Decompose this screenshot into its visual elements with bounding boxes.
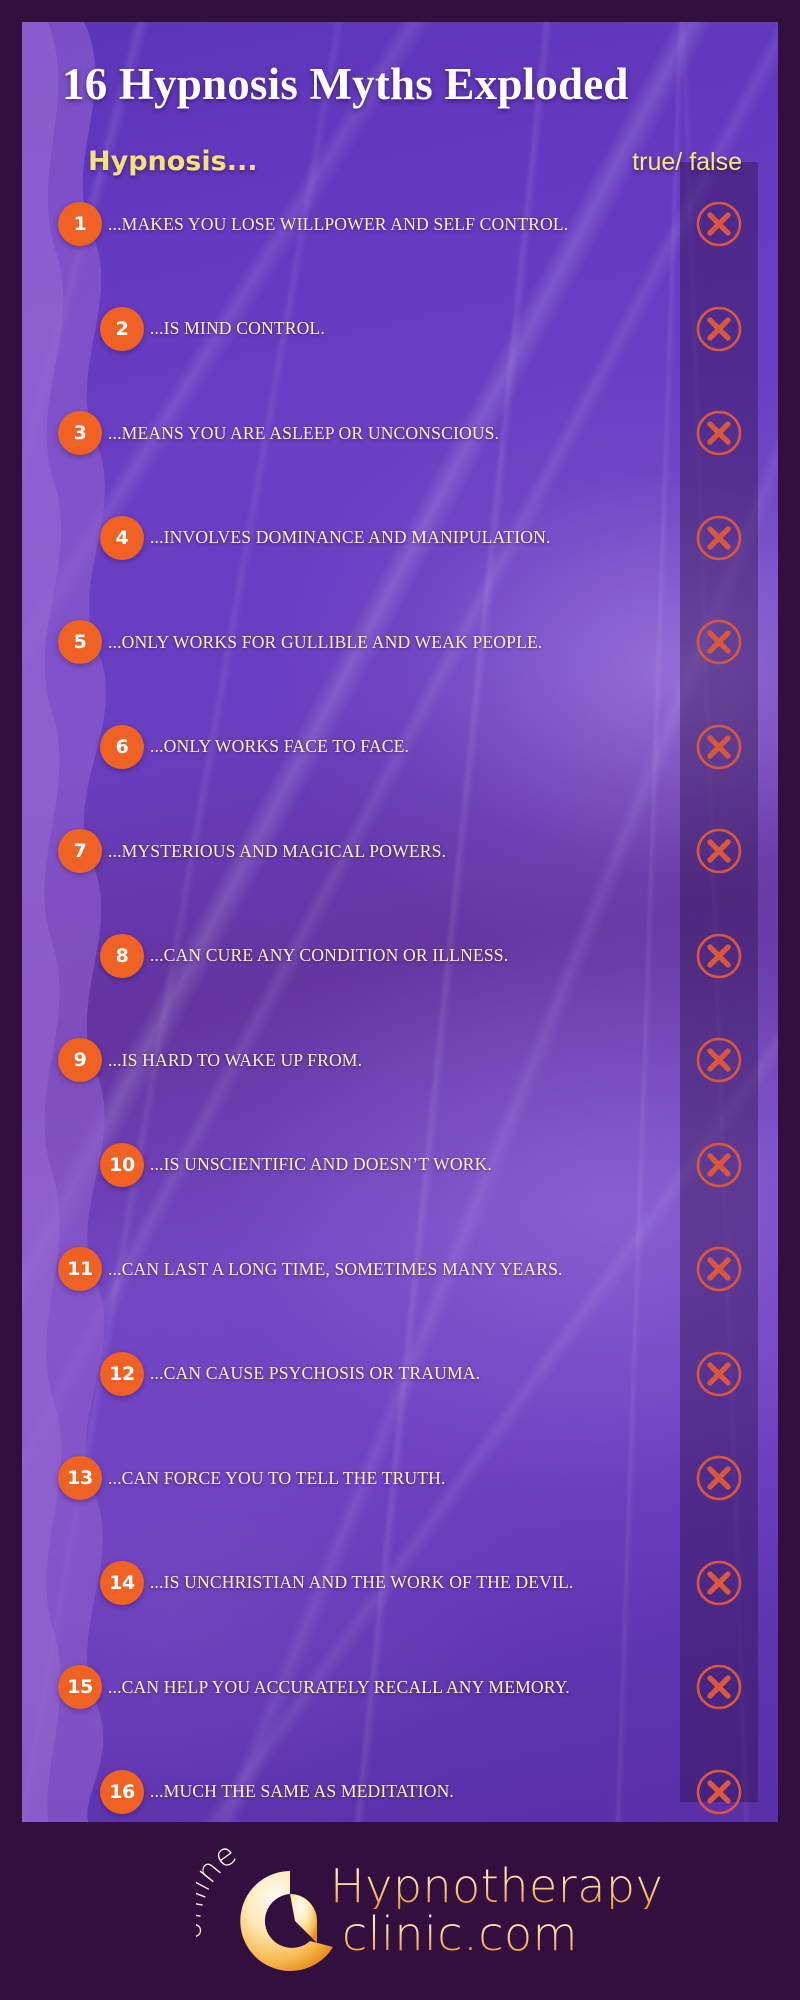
x-circle-icon [694, 1035, 744, 1085]
myth-number-badge: 15 [58, 1665, 102, 1709]
myth-text: ...ONLY WORKS FACE TO FACE. [150, 736, 409, 757]
wavy-ribbon-decoration [22, 22, 152, 1822]
myth-row: 12...CAN CAUSE PSYCHOSIS OR TRAUMA. [22, 1348, 778, 1400]
myth-number-badge: 12 [100, 1352, 144, 1396]
myth-row: 4...INVOLVES DOMINANCE AND MANIPULATION. [22, 512, 778, 564]
x-circle-icon [694, 1453, 744, 1503]
myth-text: ...CAN CURE ANY CONDITION OR ILLNESS. [150, 945, 508, 966]
x-circle-icon [694, 199, 744, 249]
myth-row: 9...IS HARD TO WAKE UP FROM. [22, 1034, 778, 1086]
subhead-true-false-label: true/ false [632, 148, 742, 177]
x-circle-icon [694, 826, 744, 876]
myth-number-badge: 16 [100, 1770, 144, 1814]
myth-text: ...INVOLVES DOMINANCE AND MANIPULATION. [150, 527, 551, 548]
page-title: 16 Hypnosis Myths Exploded [62, 62, 762, 107]
myth-text: ...IS UNSCIENTIFIC AND DOESN’T WORK. [150, 1154, 492, 1175]
myth-row: 1...MAKES YOU LOSE WILLPOWER AND SELF CO… [22, 198, 778, 250]
c-swirl-icon [238, 1869, 342, 1973]
x-circle-icon [694, 1662, 744, 1712]
myth-row: 2...IS MIND CONTROL. [22, 303, 778, 355]
myth-number-badge: 14 [100, 1561, 144, 1605]
myth-number-badge: 8 [100, 934, 144, 978]
nebula-streaks-decoration [22, 22, 778, 1822]
x-circle-icon [694, 513, 744, 563]
myth-text: ...CAN CAUSE PSYCHOSIS OR TRAUMA. [150, 1363, 480, 1384]
x-circle-icon [694, 1244, 744, 1294]
svg-text:online: online [196, 1843, 243, 1942]
subhead-hypnosis-label: Hypnosis... [88, 146, 257, 177]
myth-row: 13...CAN FORCE YOU TO TELL THE TRUTH. [22, 1452, 778, 1504]
x-circle-icon [694, 304, 744, 354]
myth-row: 15...CAN HELP YOU ACCURATELY RECALL ANY … [22, 1661, 778, 1713]
myth-text: ...IS UNCHRISTIAN AND THE WORK OF THE DE… [150, 1572, 573, 1593]
nebula-streaks-decoration-secondary [22, 22, 778, 1822]
myth-row: 6...ONLY WORKS FACE TO FACE. [22, 721, 778, 773]
myth-row: 14...IS UNCHRISTIAN AND THE WORK OF THE … [22, 1557, 778, 1609]
myth-text: ...MEANS YOU ARE ASLEEP OR UNCONSCIOUS. [108, 423, 499, 444]
footer-branding: online [0, 1822, 800, 2000]
myth-text: ...IS MIND CONTROL. [150, 318, 325, 339]
myth-number-badge: 2 [100, 307, 144, 351]
myth-number-badge: 1 [58, 202, 102, 246]
myth-number-badge: 11 [58, 1247, 102, 1291]
myth-row: 8...CAN CURE ANY CONDITION OR ILLNESS. [22, 930, 778, 982]
myth-row: 16...MUCH THE SAME AS MEDITATION. [22, 1766, 778, 1818]
x-circle-icon [694, 1558, 744, 1608]
myth-row: 3...MEANS YOU ARE ASLEEP OR UNCONSCIOUS. [22, 407, 778, 459]
myth-number-badge: 9 [58, 1038, 102, 1082]
main-panel: 16 Hypnosis Myths Exploded Hypnosis... t… [22, 22, 778, 1822]
logo-line-1: Hypnotherapy [330, 1863, 663, 1909]
myth-number-badge: 5 [58, 620, 102, 664]
infographic-poster: 16 Hypnosis Myths Exploded Hypnosis... t… [0, 0, 800, 2000]
logo[interactable]: online [190, 1841, 610, 1981]
myth-text: ...MUCH THE SAME AS MEDITATION. [150, 1781, 454, 1802]
myth-row: 11...CAN LAST A LONG TIME, SOMETIMES MAN… [22, 1243, 778, 1295]
myth-number-badge: 13 [58, 1456, 102, 1500]
myth-number-badge: 3 [58, 411, 102, 455]
myth-number-badge: 4 [100, 516, 144, 560]
myth-number-badge: 7 [58, 829, 102, 873]
myth-text: ...CAN LAST A LONG TIME, SOMETIMES MANY … [108, 1259, 563, 1280]
myth-text: ...MYSTERIOUS AND MAGICAL POWERS. [108, 841, 446, 862]
x-circle-icon [694, 408, 744, 458]
myth-text: ...CAN HELP YOU ACCURATELY RECALL ANY ME… [108, 1677, 570, 1698]
myth-text: ...ONLY WORKS FOR GULLIBLE AND WEAK PEOP… [108, 632, 542, 653]
x-circle-icon [694, 722, 744, 772]
myth-row: 7...MYSTERIOUS AND MAGICAL POWERS. [22, 825, 778, 877]
x-circle-icon [694, 617, 744, 667]
myth-number-badge: 6 [100, 725, 144, 769]
myth-row: 5...ONLY WORKS FOR GULLIBLE AND WEAK PEO… [22, 616, 778, 668]
myth-row: 10...IS UNSCIENTIFIC AND DOESN’T WORK. [22, 1139, 778, 1191]
x-circle-icon [694, 1767, 744, 1817]
x-circle-icon [694, 931, 744, 981]
myth-text: ...CAN FORCE YOU TO TELL THE TRUTH. [108, 1468, 446, 1489]
myth-text: ...IS HARD TO WAKE UP FROM. [108, 1050, 362, 1071]
myth-text: ...MAKES YOU LOSE WILLPOWER AND SELF CON… [108, 214, 568, 235]
x-circle-icon [694, 1349, 744, 1399]
myth-number-badge: 10 [100, 1143, 144, 1187]
x-circle-icon [694, 1140, 744, 1190]
logo-line-2: clinic.com [342, 1911, 578, 1957]
